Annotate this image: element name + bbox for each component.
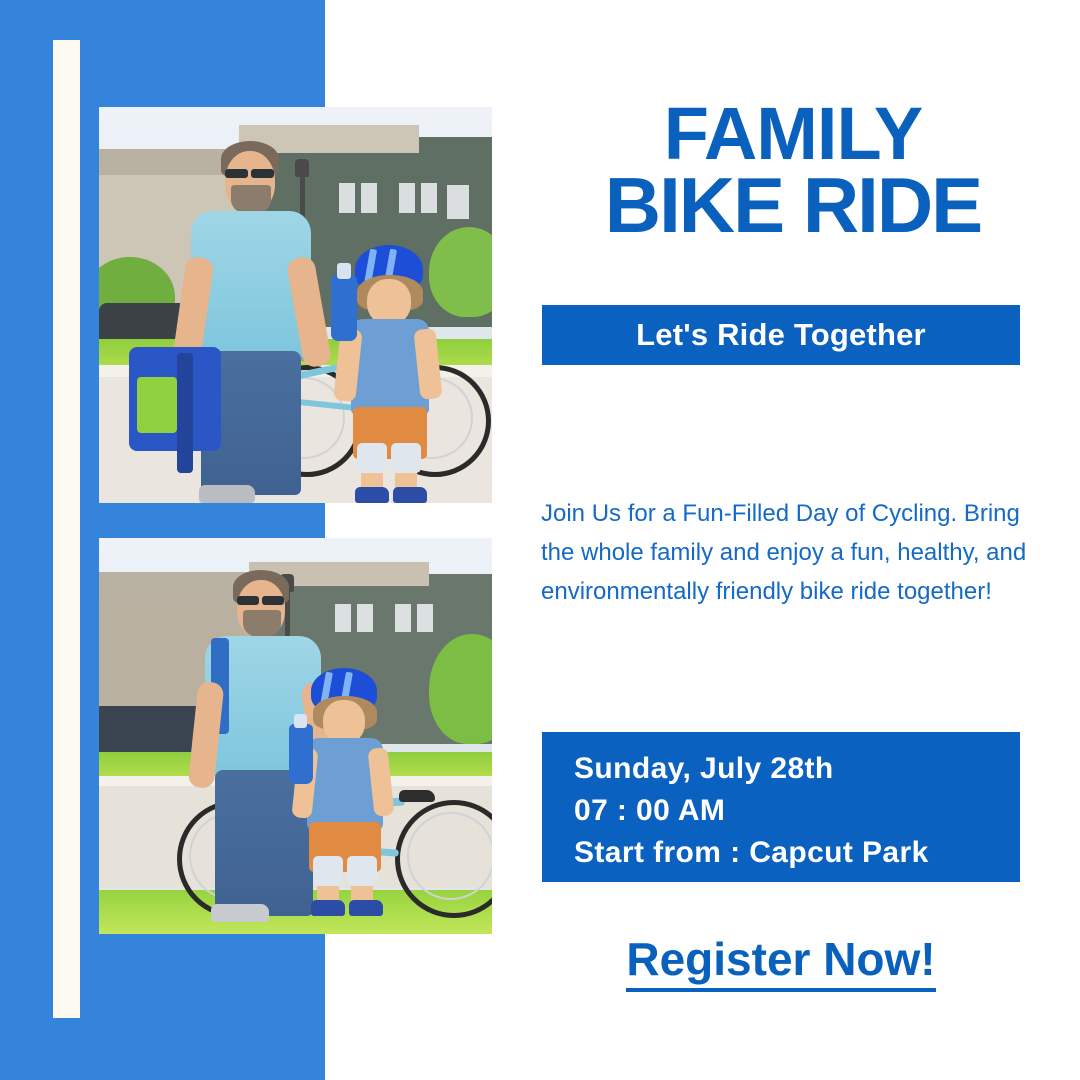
- bottle-cap: [294, 714, 307, 728]
- cream-accent-stripe: [53, 40, 80, 1018]
- window: [339, 183, 355, 213]
- window: [417, 604, 433, 632]
- kid-shoe: [355, 487, 389, 503]
- knee-pad: [347, 856, 377, 886]
- window: [399, 183, 415, 213]
- sunglasses-left-lens: [225, 169, 248, 178]
- event-location: Start from : Capcut Park: [574, 836, 929, 870]
- bike-rim-front: [407, 812, 492, 900]
- window: [447, 185, 469, 219]
- window: [335, 604, 351, 632]
- adult-shoe: [199, 485, 255, 503]
- window: [357, 604, 373, 632]
- register-link[interactable]: Register Now!: [542, 932, 1020, 992]
- kid-shoe: [393, 487, 427, 503]
- register-label[interactable]: Register Now!: [626, 932, 935, 992]
- photo-family-2: [99, 538, 492, 934]
- street-lamp-icon: [295, 159, 309, 177]
- sunglasses-right-lens: [251, 169, 274, 178]
- event-time: 07 : 00 AM: [574, 794, 725, 828]
- event-details-box: Sunday, July 28th 07 : 00 AM Start from …: [542, 732, 1020, 882]
- window: [395, 604, 411, 632]
- adult-beard: [243, 610, 281, 638]
- description-paragraph: Join Us for a Fun-Filled Day of Cycling.…: [541, 495, 1041, 612]
- knee-pad: [391, 443, 421, 473]
- tagline-ribbon: Let's Ride Together: [542, 305, 1020, 365]
- tagline-text: Let's Ride Together: [636, 317, 926, 353]
- adult-shoe: [211, 904, 269, 922]
- window: [421, 183, 437, 213]
- backpack-green-panel: [137, 377, 177, 433]
- event-date: Sunday, July 28th: [574, 752, 834, 786]
- water-bottle: [331, 275, 357, 341]
- knee-pad: [313, 856, 343, 886]
- sunglasses-right-lens: [262, 596, 284, 605]
- knee-pad: [357, 443, 387, 473]
- page-title: FAMILY BIKE RIDE: [542, 100, 1044, 241]
- poster: FAMILY BIKE RIDE Let's Ride Together Joi…: [0, 0, 1080, 1080]
- kid-shoe: [311, 900, 345, 916]
- bike-seat: [399, 790, 435, 802]
- window: [361, 183, 377, 213]
- photo-family-1: [99, 107, 492, 503]
- backpack-strap: [177, 353, 193, 473]
- bottle-cap: [337, 263, 351, 279]
- water-bottle: [289, 724, 313, 784]
- content-column: FAMILY BIKE RIDE Let's Ride Together Joi…: [520, 0, 1080, 1080]
- title-line-2: BIKE RIDE: [542, 169, 1044, 242]
- kid-shoe: [349, 900, 383, 916]
- sunglasses-left-lens: [237, 596, 259, 605]
